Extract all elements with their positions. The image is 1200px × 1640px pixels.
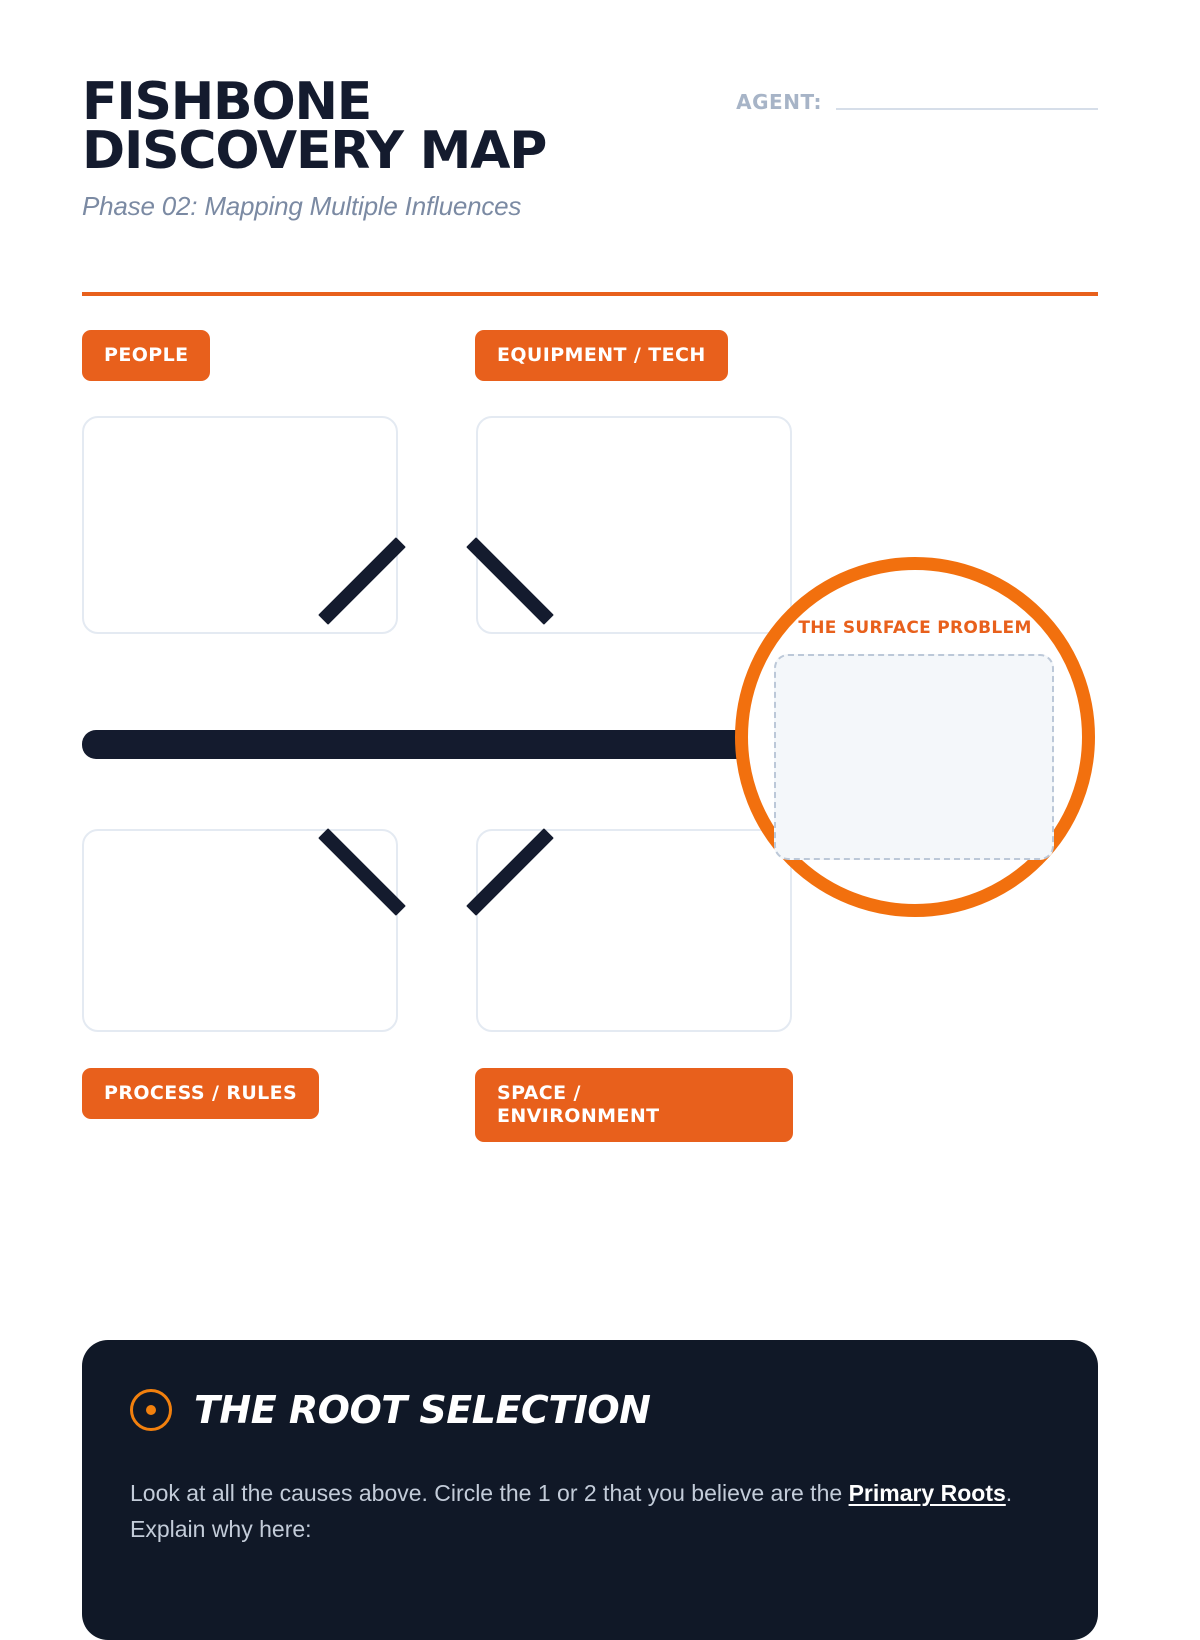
category-chip-people[interactable]: PEOPLE bbox=[82, 330, 210, 381]
page-title-line-2: DISCOVERY MAP bbox=[82, 127, 642, 176]
agent-input[interactable] bbox=[836, 108, 1098, 110]
root-selection-panel: THE ROOT SELECTION Look at all the cause… bbox=[82, 1340, 1098, 1640]
page-header: FISHBONE DISCOVERY MAP Phase 02: Mapping… bbox=[82, 78, 1098, 278]
root-selection-instructions: Look at all the causes above. Circle the… bbox=[130, 1476, 1050, 1547]
agent-field-group: AGENT: bbox=[736, 90, 1098, 114]
fishbone-spine bbox=[82, 730, 760, 759]
surface-problem-label: THE SURFACE PROBLEM bbox=[735, 618, 1095, 638]
instruction-emphasis-primary-roots: Primary Roots bbox=[849, 1480, 1006, 1506]
category-chip-space-environment[interactable]: SPACE / ENVIRONMENT bbox=[475, 1068, 793, 1142]
surface-problem-input[interactable] bbox=[774, 654, 1054, 860]
fishbone-discovery-map-page: FISHBONE DISCOVERY MAP Phase 02: Mapping… bbox=[0, 0, 1200, 1600]
category-chip-equipment-tech[interactable]: EQUIPMENT / TECH bbox=[475, 330, 728, 381]
page-subtitle: Phase 02: Mapping Multiple Influences bbox=[82, 191, 1098, 222]
page-title: FISHBONE DISCOVERY MAP bbox=[82, 78, 642, 177]
agent-label: AGENT: bbox=[736, 90, 822, 114]
root-selection-title: THE ROOT SELECTION bbox=[194, 1388, 650, 1432]
instruction-prefix: Look at all the causes above. Circle the… bbox=[130, 1480, 849, 1506]
root-selection-header: THE ROOT SELECTION bbox=[130, 1388, 1050, 1432]
category-chip-process-rules[interactable]: PROCESS / RULES bbox=[82, 1068, 319, 1119]
header-divider bbox=[82, 292, 1098, 296]
target-icon bbox=[130, 1389, 172, 1431]
target-icon-center-dot bbox=[146, 1405, 156, 1415]
